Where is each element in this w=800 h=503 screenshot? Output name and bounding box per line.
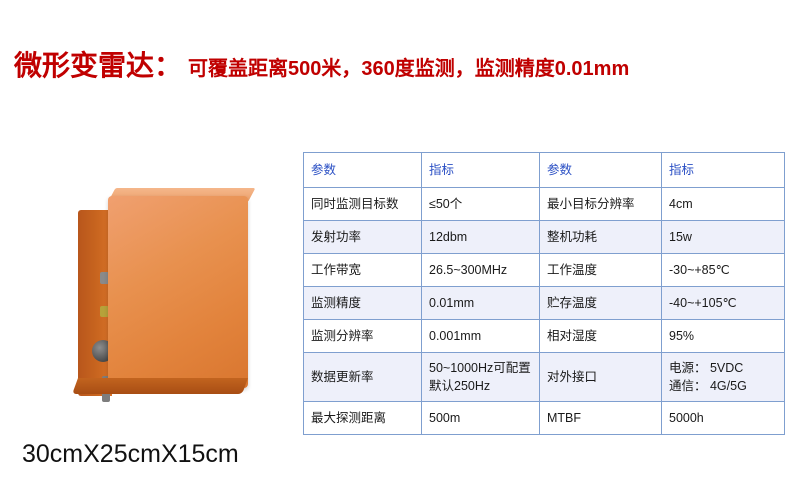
cell-value: 0.001mm — [422, 320, 540, 353]
title-main-text: 微形变雷达： — [14, 44, 182, 84]
cell-param: 工作温度 — [540, 254, 662, 287]
column-header-value-2: 指标 — [662, 153, 785, 188]
table-row: 监测精度 0.01mm 贮存温度 -40~+105℃ — [304, 287, 785, 320]
cell-value: -30~+85℃ — [662, 254, 785, 287]
cell-param: 数据更新率 — [304, 353, 422, 402]
page-title: 微形变雷达： 可覆盖距离500米，360度监测，监测精度0.01mm — [14, 44, 629, 84]
specification-table: 参数 指标 参数 指标 同时监测目标数 ≤50个 最小目标分辨率 4cm 发射功… — [303, 152, 785, 435]
cell-param: 对外接口 — [540, 353, 662, 402]
cell-value: 26.5~300MHz — [422, 254, 540, 287]
cell-value: 95% — [662, 320, 785, 353]
cell-value: ≤50个 — [422, 188, 540, 221]
table-row: 同时监测目标数 ≤50个 最小目标分辨率 4cm — [304, 188, 785, 221]
cell-param: 同时监测目标数 — [304, 188, 422, 221]
table-row: 发射功率 12dbm 整机功耗 15w — [304, 221, 785, 254]
table-row: 数据更新率 50~1000Hz可配置默认250Hz 对外接口 电源： 5VDC … — [304, 353, 785, 402]
column-header-param-1: 参数 — [304, 153, 422, 188]
device-front-face — [108, 196, 248, 388]
title-subtitle-text: 可覆盖距离500米，360度监测，监测精度0.01mm — [188, 52, 629, 81]
cell-param: 最小目标分辨率 — [540, 188, 662, 221]
cell-value: -40~+105℃ — [662, 287, 785, 320]
cell-value: 15w — [662, 221, 785, 254]
table-header-row: 参数 指标 参数 指标 — [304, 153, 785, 188]
table-row: 监测分辨率 0.001mm 相对湿度 95% — [304, 320, 785, 353]
cell-param: 贮存温度 — [540, 287, 662, 320]
cell-value: 4cm — [662, 188, 785, 221]
device-side-panel — [78, 210, 112, 396]
cell-param: 最大探测距离 — [304, 402, 422, 435]
cell-value: 12dbm — [422, 221, 540, 254]
product-photo — [60, 180, 290, 430]
cell-param: 整机功耗 — [540, 221, 662, 254]
cell-param: 监测分辨率 — [304, 320, 422, 353]
dimension-label: 30cmX25cmX15cm — [22, 440, 239, 469]
cell-value: 50~1000Hz可配置默认250Hz — [422, 353, 540, 402]
table-row: 最大探测距离 500m MTBF 5000h — [304, 402, 785, 435]
column-header-value-1: 指标 — [422, 153, 540, 188]
cell-value: 5000h — [662, 402, 785, 435]
cell-value: 0.01mm — [422, 287, 540, 320]
cell-param: MTBF — [540, 402, 662, 435]
cell-param: 发射功率 — [304, 221, 422, 254]
cell-value: 500m — [422, 402, 540, 435]
cell-param: 工作带宽 — [304, 254, 422, 287]
cell-param: 监测精度 — [304, 287, 422, 320]
table-row: 工作带宽 26.5~300MHz 工作温度 -30~+85℃ — [304, 254, 785, 287]
device-bottom-edge — [72, 378, 248, 394]
cell-value: 电源： 5VDC 通信： 4G/5G — [662, 353, 785, 402]
cell-param: 相对湿度 — [540, 320, 662, 353]
column-header-param-2: 参数 — [540, 153, 662, 188]
